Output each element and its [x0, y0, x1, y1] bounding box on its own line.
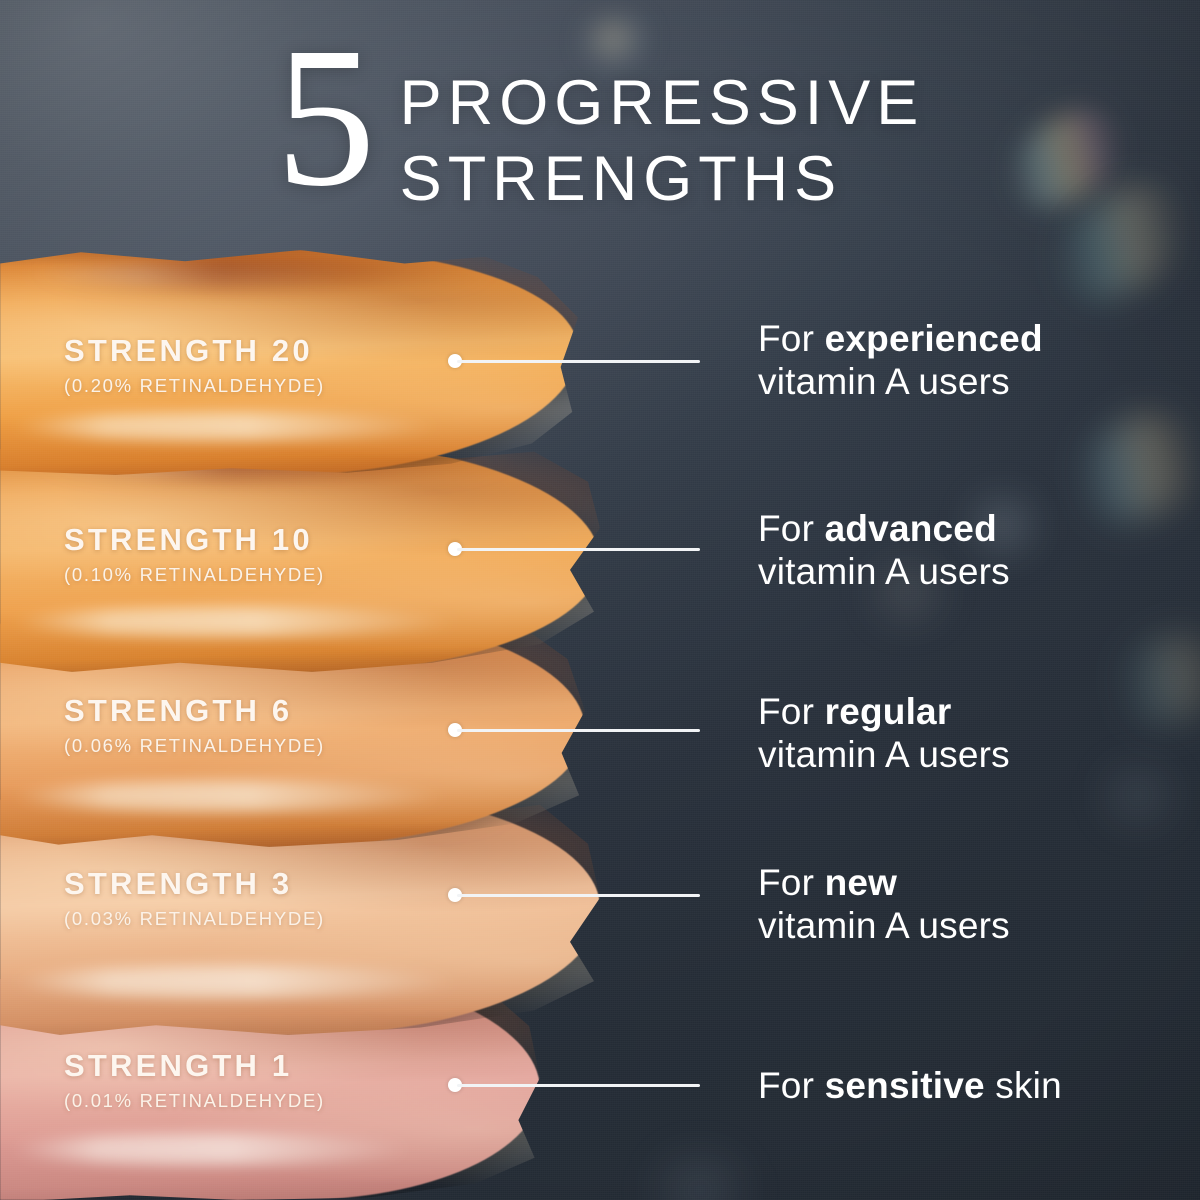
description-line-1: For advanced	[758, 508, 1010, 551]
connector-line-6	[448, 723, 700, 737]
swatch-subtitle: (0.20% RETINALDEHYDE)	[64, 377, 325, 396]
connector-line-10	[448, 542, 700, 556]
description-line-1: For new	[758, 862, 1010, 905]
description-suffix: skin	[985, 1065, 1062, 1106]
connector-stroke	[457, 1084, 700, 1087]
connector-stroke	[457, 729, 700, 732]
swatch-label-10: STRENGTH 10(0.10% RETINALDEHYDE)	[64, 524, 325, 585]
description-emphasis: new	[825, 862, 898, 903]
poster-canvas: 5 PROGRESSIVE STRENGTHS STRENGTH 20(0.20…	[0, 0, 1200, 1200]
connector-stroke	[457, 548, 700, 551]
headline-number: 5	[276, 38, 374, 198]
description-line-1: For regular	[758, 691, 1010, 734]
swatch-label-1: STRENGTH 1(0.01% RETINALDEHYDE)	[64, 1050, 325, 1111]
swatch-label-20: STRENGTH 20(0.20% RETINALDEHYDE)	[64, 335, 325, 396]
description-line-2: vitamin A users	[758, 734, 1010, 777]
swatch-subtitle: (0.03% RETINALDEHYDE)	[64, 910, 325, 929]
swatch-title: STRENGTH 6	[64, 695, 325, 726]
connector-stroke	[457, 360, 700, 363]
description-line-2: vitamin A users	[758, 361, 1043, 404]
description-line-2: vitamin A users	[758, 551, 1010, 594]
description-emphasis: experienced	[825, 318, 1043, 359]
headline-line-1: PROGRESSIVE	[400, 66, 925, 142]
connector-line-20	[448, 354, 700, 368]
description-emphasis: advanced	[825, 508, 997, 549]
headline-line-2: STRENGTHS	[400, 142, 925, 218]
description-prefix: For	[758, 691, 825, 732]
description-emphasis: regular	[825, 691, 952, 732]
connector-line-3	[448, 888, 700, 902]
swatch-title: STRENGTH 20	[64, 335, 325, 366]
swatch-label-6: STRENGTH 6(0.06% RETINALDEHYDE)	[64, 695, 325, 756]
description-prefix: For	[758, 1065, 825, 1106]
description-line-2: vitamin A users	[758, 905, 1010, 948]
description-prefix: For	[758, 318, 825, 359]
description-6: For regularvitamin A users	[758, 691, 1010, 777]
description-emphasis: sensitive	[825, 1065, 985, 1106]
swatch-subtitle: (0.10% RETINALDEHYDE)	[64, 566, 325, 585]
connector-stroke	[457, 894, 700, 897]
swatch-subtitle: (0.06% RETINALDEHYDE)	[64, 737, 325, 756]
poster-header: 5 PROGRESSIVE STRENGTHS	[0, 44, 1200, 217]
description-3: For newvitamin A users	[758, 862, 1010, 948]
description-prefix: For	[758, 862, 825, 903]
headline-title: PROGRESSIVE STRENGTHS	[400, 66, 925, 217]
swatch-title: STRENGTH 3	[64, 868, 325, 899]
description-line-1: For sensitive skin	[758, 1065, 1062, 1108]
description-20: For experiencedvitamin A users	[758, 318, 1043, 404]
description-10: For advancedvitamin A users	[758, 508, 1010, 594]
description-1: For sensitive skin	[758, 1065, 1062, 1108]
swatch-label-3: STRENGTH 3(0.03% RETINALDEHYDE)	[64, 868, 325, 929]
connector-line-1	[448, 1078, 700, 1092]
swatch-title: STRENGTH 1	[64, 1050, 325, 1081]
description-line-1: For experienced	[758, 318, 1043, 361]
description-prefix: For	[758, 508, 825, 549]
swatch-subtitle: (0.01% RETINALDEHYDE)	[64, 1092, 325, 1111]
swatch-title: STRENGTH 10	[64, 524, 325, 555]
